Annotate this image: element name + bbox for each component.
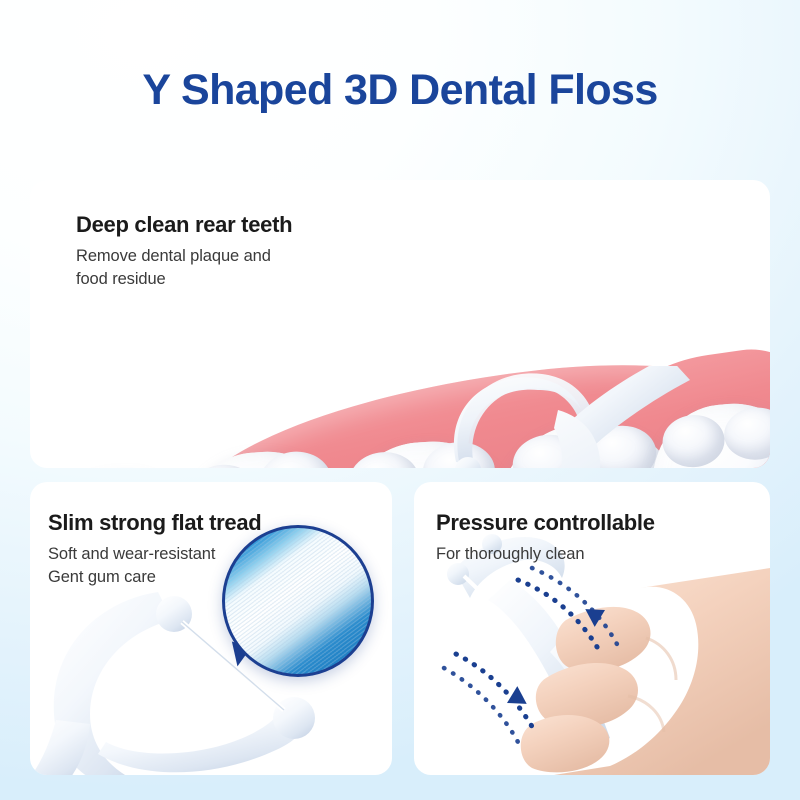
feature-card-pressure-controllable: Pressure controllable For thoroughly cle…: [414, 482, 770, 775]
card-subtext-line: Gent gum care: [48, 566, 261, 589]
card-subtext-line: food residue: [76, 268, 292, 291]
card-subtext: Remove dental plaque and food residue: [76, 245, 292, 292]
y-floss-pick-icon: [360, 366, 690, 468]
card-text-block: Pressure controllable For thoroughly cle…: [436, 510, 655, 566]
card-subtext-line: Soft and wear-resistant: [48, 543, 261, 566]
card-text-block: Slim strong flat tread Soft and wear-res…: [48, 510, 261, 590]
card-text-block: Deep clean rear teeth Remove dental plaq…: [76, 212, 292, 292]
card-subtext: For thoroughly clean: [436, 543, 655, 566]
card-subtext-line: For thoroughly clean: [436, 543, 655, 566]
card-subtext: Soft and wear-resistant Gent gum care: [48, 543, 261, 590]
feature-card-slim-strong-flat-tread: Slim strong flat tread Soft and wear-res…: [30, 482, 392, 775]
card-heading: Pressure controllable: [436, 510, 655, 536]
molar-tooth: [35, 465, 211, 468]
page-title: Y Shaped 3D Dental Floss: [0, 66, 800, 115]
feature-card-deep-clean-rear-teeth: Deep clean rear teeth Remove dental plaq…: [30, 180, 770, 468]
card-heading: Deep clean rear teeth: [76, 212, 292, 238]
card-heading: Slim strong flat tread: [48, 510, 261, 536]
product-infographic: Y Shaped 3D Dental Floss: [0, 0, 800, 800]
card-subtext-line: Remove dental plaque and: [76, 245, 292, 268]
